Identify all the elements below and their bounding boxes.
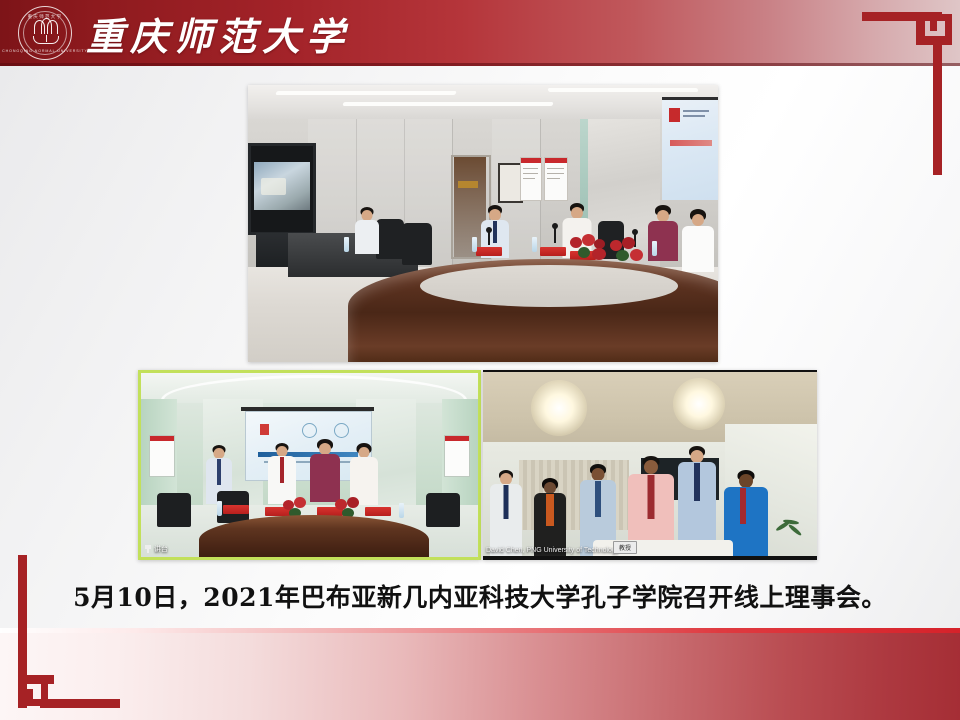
wall-notice-board	[520, 157, 542, 201]
seated-person	[352, 207, 382, 263]
person-necktie	[740, 488, 746, 524]
header-banner: 重庆师范大学 CHONGQING NORMAL UNIVERSITY 重庆师范大…	[0, 0, 960, 66]
ornament-bar-vertical	[18, 555, 27, 676]
seal-petal-right	[47, 20, 58, 34]
ceiling-lamp	[673, 378, 725, 430]
notice-line	[547, 173, 564, 174]
seated-person	[680, 209, 716, 277]
office-chair	[402, 223, 432, 265]
notice-line	[523, 173, 538, 174]
plant-leaf	[788, 523, 803, 536]
flower-leaf	[578, 247, 590, 258]
ornament-bar-horizontal	[40, 699, 120, 708]
footer-banner	[0, 628, 960, 720]
flower-leaf	[616, 250, 629, 261]
person-head	[692, 214, 704, 226]
person-necktie	[217, 459, 221, 485]
flower	[347, 497, 359, 508]
potted-plant	[773, 518, 807, 552]
ceiling-light-strip	[275, 91, 457, 95]
notice-header	[521, 158, 541, 163]
person-necktie	[694, 463, 700, 501]
notice-header	[150, 436, 174, 441]
video-participant-label: David Chen, PNG University of Technology	[486, 547, 619, 554]
person-torso	[355, 220, 379, 254]
office-chair	[426, 493, 460, 527]
ceiling-light-strip	[342, 102, 553, 106]
ornament-bar-vertical	[933, 44, 942, 175]
office-chair	[157, 493, 191, 527]
video-conference-remote-photo: David Chen, PNG University of Technology…	[483, 370, 817, 560]
person-necktie	[280, 457, 284, 483]
wall-notice-board	[149, 435, 175, 477]
ornament-bar-box-left	[930, 14, 937, 31]
oval-conference-table	[199, 515, 429, 560]
microphone	[488, 231, 490, 245]
water-bottle	[344, 237, 349, 252]
projection-text-line	[683, 110, 709, 112]
university-seal-icon: 重庆师范大学 CHONGQING NORMAL UNIVERSITY	[18, 6, 72, 60]
flower	[570, 237, 582, 248]
projection-badge-icon	[334, 423, 349, 438]
projection-title-bar	[670, 140, 712, 146]
door-sign	[458, 181, 478, 188]
slide-canvas: 重庆师范大学 CHONGQING NORMAL UNIVERSITY 重庆师范大…	[0, 0, 960, 720]
notice-header	[545, 158, 567, 163]
ornament-bar-box-left	[26, 689, 33, 706]
video-conference-display	[248, 143, 316, 235]
projection-badge-icon	[302, 423, 317, 438]
video-conference-local-photo: 讲台	[138, 370, 481, 560]
ceiling-lamp	[531, 380, 587, 436]
flower	[592, 248, 606, 260]
projection-text-line	[683, 115, 705, 117]
ornament-bar-box-right	[945, 14, 952, 37]
oval-conference-table	[348, 259, 718, 362]
ornament-bar-box-right	[41, 683, 48, 706]
person-head	[739, 474, 753, 488]
video-participant-label: 讲台	[145, 544, 168, 554]
ceiling-light-strip	[548, 88, 699, 92]
flower	[622, 237, 635, 249]
wall-notice-board	[444, 435, 470, 477]
notice-line	[523, 168, 538, 169]
water-bottle	[217, 501, 222, 516]
projection-logo-icon	[669, 108, 680, 122]
person-blouse	[546, 494, 554, 526]
video-participant-name: 讲台	[154, 544, 168, 554]
ornament-bar-hook-horizontal	[18, 675, 54, 684]
seal-book-icon	[33, 36, 59, 44]
person-head	[644, 460, 658, 474]
water-bottle	[532, 237, 537, 252]
pin-icon	[145, 545, 151, 553]
desk-nameplate	[476, 247, 502, 256]
desk-nameplate	[223, 505, 249, 514]
person-necktie	[595, 481, 601, 517]
seal-bottom-text: CHONGQING NORMAL UNIVERSITY	[2, 49, 88, 53]
projection-logo-icon	[260, 424, 269, 435]
seal-emblem-icon	[32, 19, 58, 45]
person-necktie	[493, 221, 497, 243]
video-participant-badge: 教授	[613, 541, 637, 554]
flower	[630, 249, 643, 261]
person-torso	[682, 226, 714, 272]
projection-screen	[662, 97, 718, 200]
person-torso	[310, 454, 340, 502]
desk-nameplate	[540, 247, 566, 256]
corner-ornament-top-right	[850, 0, 960, 175]
flower	[294, 497, 306, 508]
microphone	[554, 227, 556, 243]
seated-person	[478, 205, 512, 265]
display-screen-content	[254, 162, 310, 210]
university-title: 重庆师范大学	[86, 4, 350, 62]
water-bottle	[399, 503, 404, 518]
notice-header	[445, 436, 469, 441]
notice-line	[547, 178, 560, 179]
conference-room-photo	[248, 85, 718, 362]
notice-line	[523, 178, 535, 179]
wall-notice-board	[544, 157, 568, 201]
photo-ceiling	[248, 85, 718, 123]
notice-line	[547, 168, 564, 169]
person-necktie	[504, 485, 509, 519]
slide-caption: 5月10日，2021年巴布亚新几内亚科技大学孔子学院召开线上理事会。	[0, 578, 960, 614]
person-necktie	[648, 475, 655, 519]
water-bottle	[472, 237, 477, 252]
